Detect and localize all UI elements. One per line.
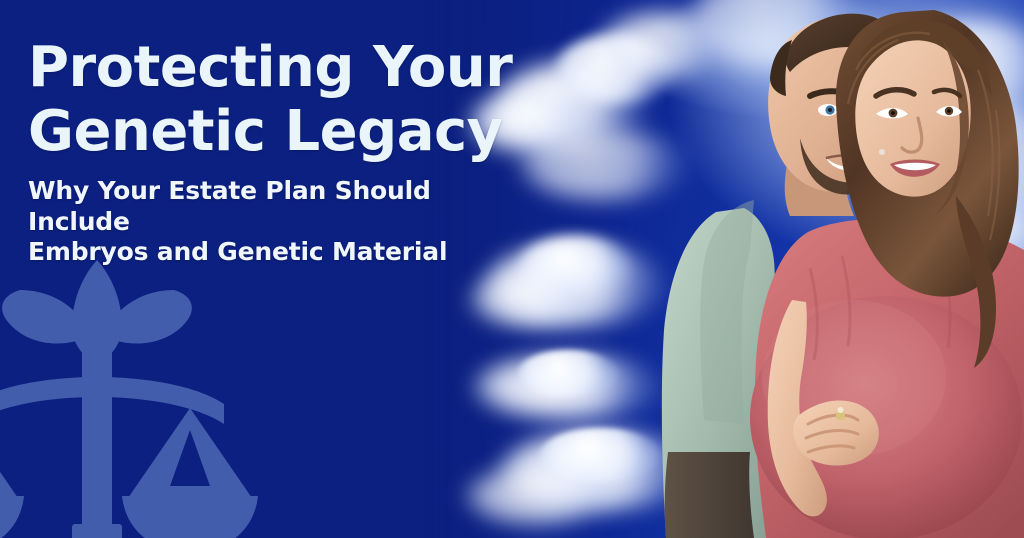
subheadline-line-2: Embryos and Genetic Material: [28, 237, 447, 266]
cloud: [518, 350, 618, 396]
scale-base: [72, 524, 122, 538]
scale-pan-right: [122, 496, 258, 538]
leaf-right: [103, 290, 192, 344]
leaf-left: [2, 290, 91, 344]
page-title: Protecting Your Genetic Legacy: [28, 40, 548, 160]
scale-hanger-right: [128, 408, 252, 498]
page-subtitle: Why Your Estate Plan Should Include Embr…: [28, 176, 528, 268]
man-trousers: [665, 452, 754, 538]
scale-beam: [0, 377, 224, 424]
cloud: [470, 274, 590, 326]
leaf-center: [72, 260, 122, 366]
scales-of-justice-icon: [0, 246, 276, 538]
scale-pan-left: [0, 496, 24, 538]
cloud: [466, 468, 616, 524]
subheadline-line-1: Why Your Estate Plan Should Include: [28, 176, 431, 236]
promo-banner: Protecting Your Genetic Legacy Why Your …: [0, 0, 1024, 538]
couple-photo: [604, 0, 1024, 538]
earring: [879, 149, 885, 155]
headline-line-2: Genetic Legacy: [28, 104, 548, 160]
headline-line-1: Protecting Your: [28, 35, 512, 100]
scale-hanger-left: [0, 408, 18, 498]
text-block: Protecting Your Genetic Legacy Why Your …: [28, 40, 548, 268]
scale-post: [82, 342, 112, 538]
